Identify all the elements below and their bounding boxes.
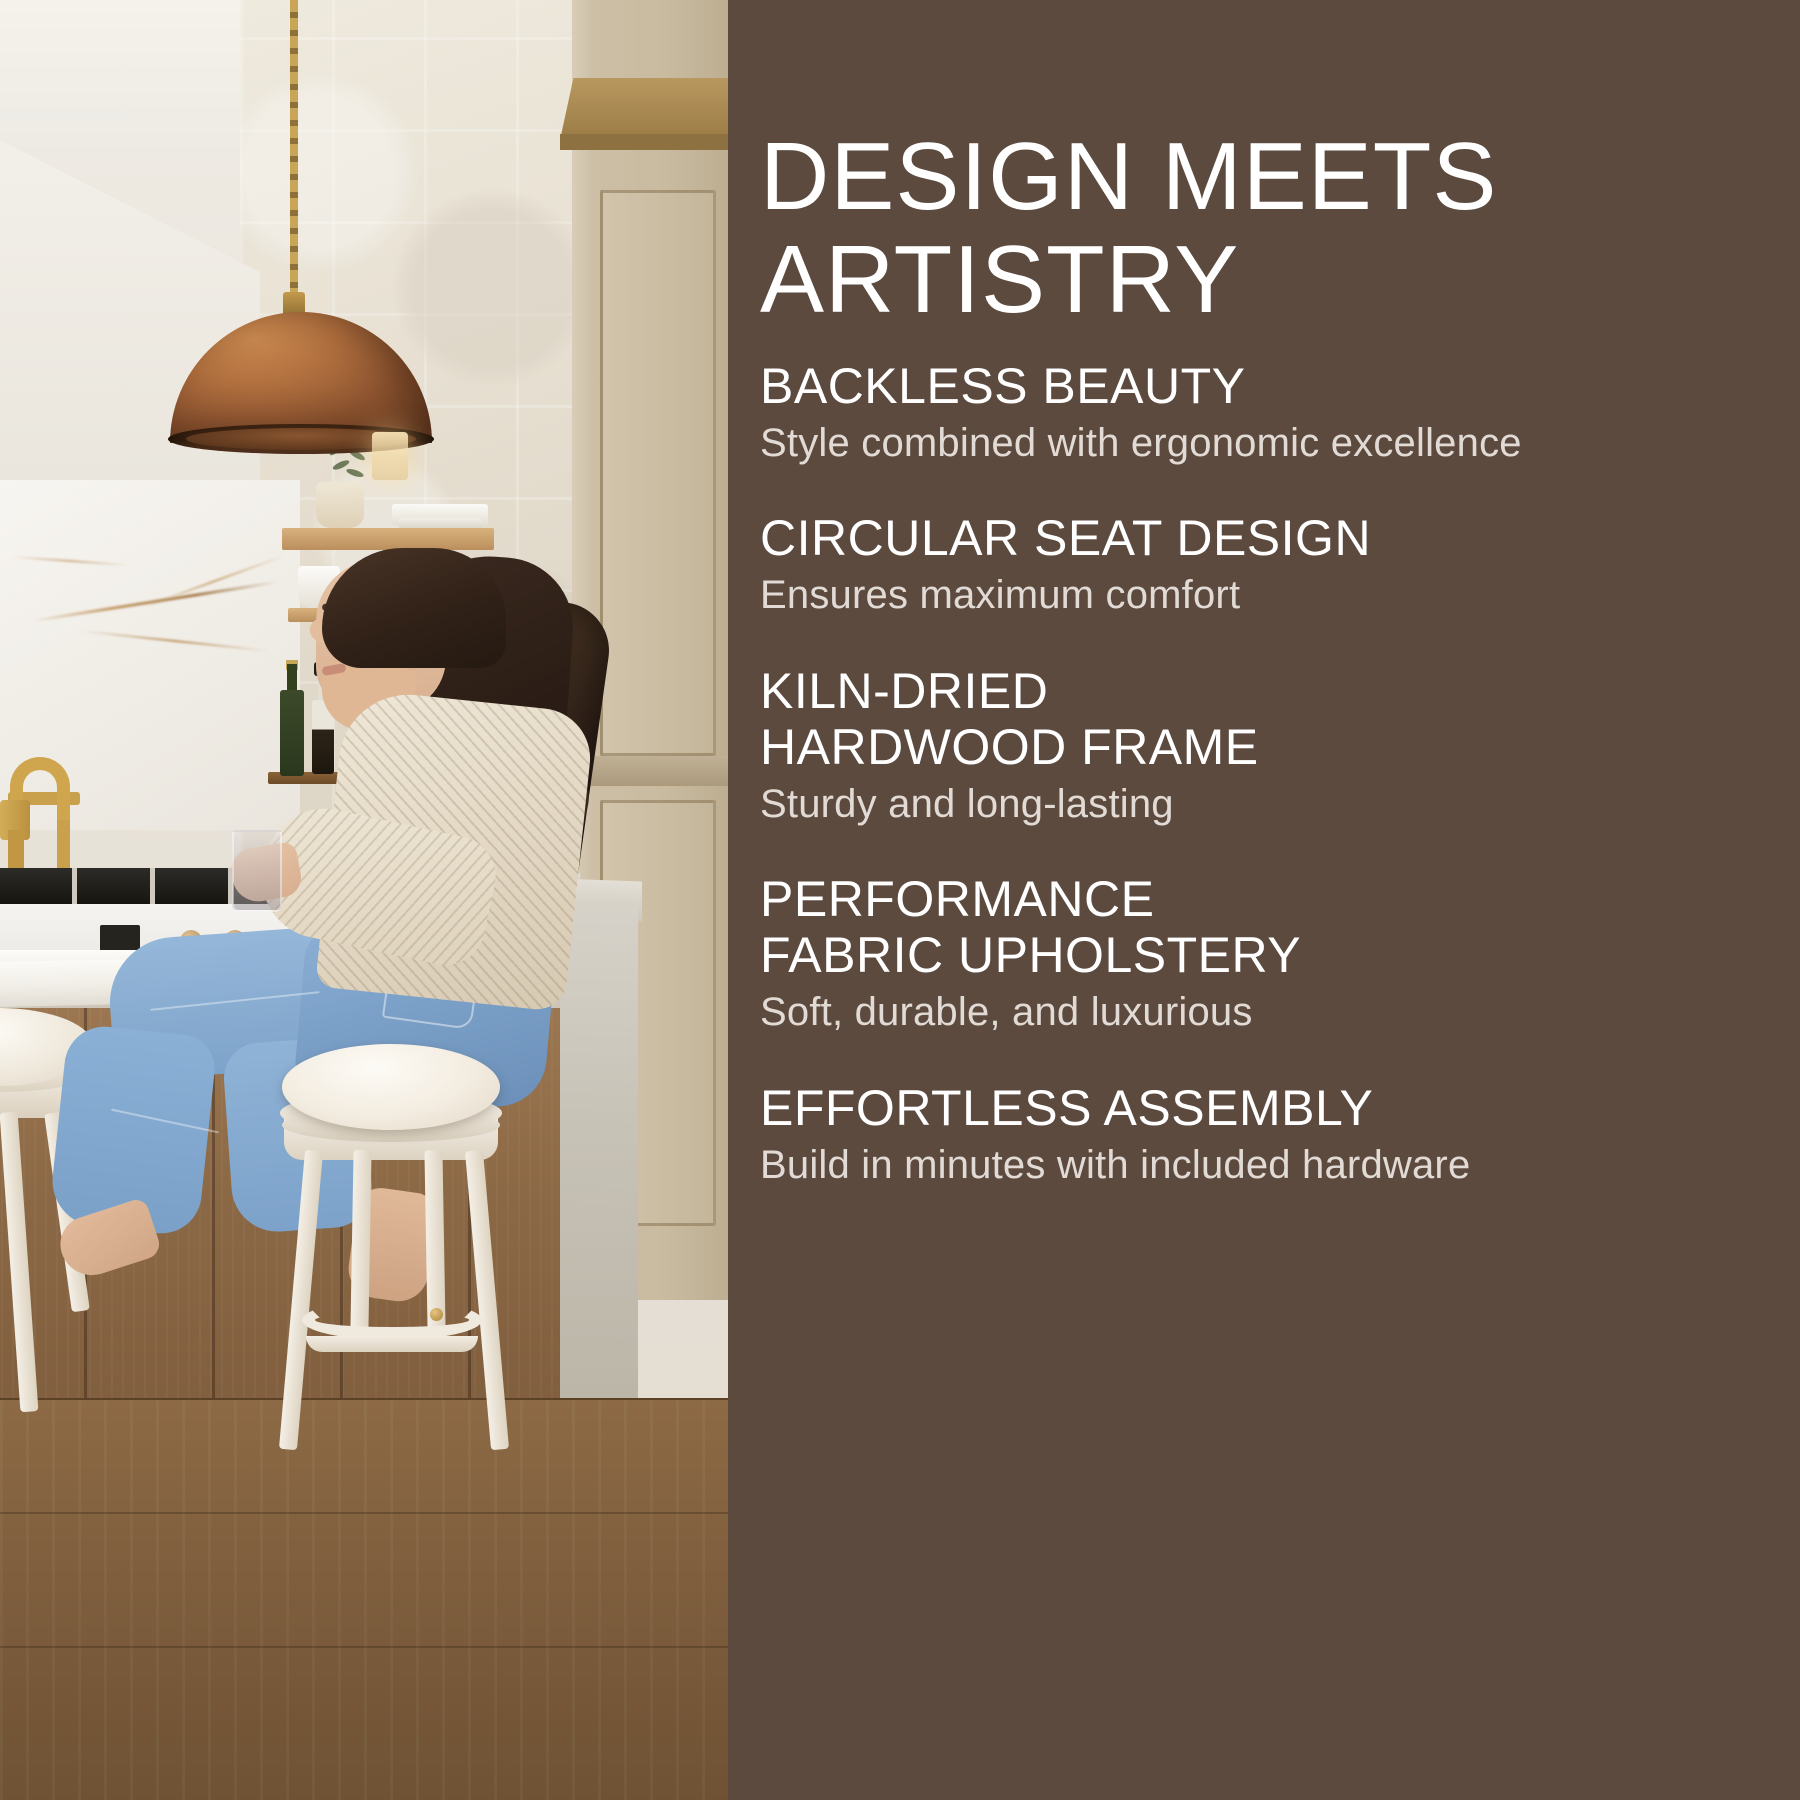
- floor-grain: [0, 1400, 728, 1800]
- feature-item-kiln-dried-hardwood-frame: KILN-DRIED HARDWOOD FRAME Sturdy and lon…: [760, 663, 1760, 827]
- feature-text-panel: DESIGN MEETS ARTISTRY BACKLESS BEAUTY St…: [728, 0, 1800, 1800]
- page-title-line-1: DESIGN MEETS: [760, 126, 1750, 229]
- feature-description: Sturdy and long-lasting: [760, 781, 1660, 827]
- grate-gap: [150, 868, 155, 904]
- white-backless-barstool-seat: [282, 1044, 500, 1130]
- feature-title-line-2: HARDWOOD FRAME: [760, 719, 1760, 775]
- grate-gap: [72, 868, 77, 904]
- feature-title: CIRCULAR SEAT DESIGN: [760, 510, 1760, 566]
- brass-screw: [430, 1308, 443, 1321]
- cabinet-crown-molding: [560, 78, 728, 140]
- feature-title-line-1: CIRCULAR SEAT DESIGN: [760, 510, 1760, 566]
- feature-title-line-1: KILN-DRIED: [760, 663, 1760, 719]
- stacked-plates-lower: [398, 518, 482, 528]
- feature-item-effortless-assembly: EFFORTLESS ASSEMBLY Build in minutes wit…: [760, 1080, 1760, 1188]
- feature-list: BACKLESS BEAUTY Style combined with ergo…: [760, 358, 1760, 1232]
- feature-title: KILN-DRIED HARDWOOD FRAME: [760, 663, 1760, 775]
- kitchen-lifestyle-photo: [0, 0, 728, 1800]
- floor-plank-seam: [0, 1512, 728, 1514]
- feature-title-line-1: PERFORMANCE: [760, 871, 1760, 927]
- stone-island-end: [560, 904, 638, 1467]
- feature-title: BACKLESS BEAUTY: [760, 358, 1760, 414]
- drinking-glass: [232, 830, 282, 912]
- page-title-line-2: ARTISTRY: [760, 229, 1750, 332]
- range-display: [100, 925, 140, 951]
- feature-title-line-1: EFFORTLESS ASSEMBLY: [760, 1080, 1760, 1136]
- feature-description: Build in minutes with included hardware: [760, 1142, 1660, 1188]
- floor-plank-seam: [0, 1646, 728, 1648]
- barstool-footrest-ring: [302, 1300, 482, 1340]
- feature-title-line-2: FABRIC UPHOLSTERY: [760, 927, 1760, 983]
- feature-item-circular-seat-design: CIRCULAR SEAT DESIGN Ensures maximum com…: [760, 510, 1760, 618]
- page-title: DESIGN MEETS ARTISTRY: [760, 126, 1750, 331]
- open-wood-shelf: [282, 528, 494, 550]
- ceramic-pot: [316, 482, 364, 528]
- pendant-chain: [290, 0, 298, 300]
- cabinet-rail: [572, 756, 728, 786]
- feature-description: Ensures maximum comfort: [760, 572, 1660, 618]
- product-feature-poster: DESIGN MEETS ARTISTRY BACKLESS BEAUTY St…: [0, 0, 1800, 1800]
- feature-item-backless-beauty: BACKLESS BEAUTY Style combined with ergo…: [760, 358, 1760, 466]
- feature-title-line-1: BACKLESS BEAUTY: [760, 358, 1760, 414]
- feature-item-performance-fabric-upholstery: PERFORMANCE FABRIC UPHOLSTERY Soft, dura…: [760, 871, 1760, 1035]
- light-bulb-icon: [372, 432, 408, 480]
- feature-title: EFFORTLESS ASSEMBLY: [760, 1080, 1760, 1136]
- feature-description: Style combined with ergonomic excellence: [760, 420, 1660, 466]
- feature-title: PERFORMANCE FABRIC UPHOLSTERY: [760, 871, 1760, 983]
- cabinet-door-panel: [600, 190, 716, 756]
- feature-description: Soft, durable, and luxurious: [760, 989, 1660, 1035]
- barstool-footrail: [306, 1336, 478, 1352]
- cabinet-crown-shadow: [560, 134, 728, 150]
- wine-bottle: [280, 690, 304, 776]
